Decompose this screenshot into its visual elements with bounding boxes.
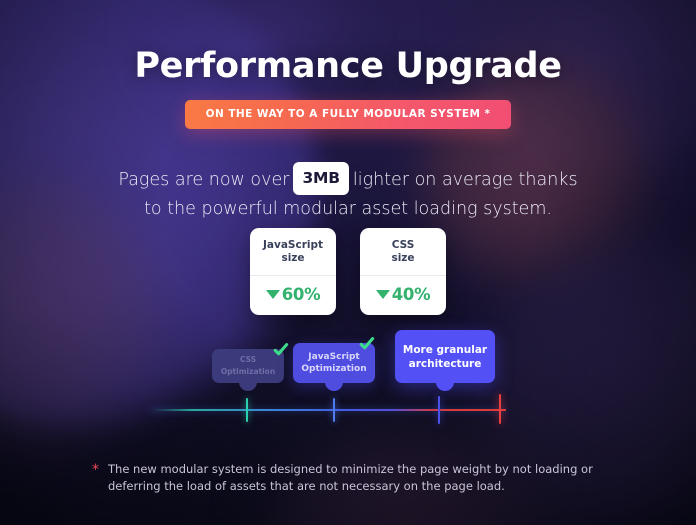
stat-card-title: CSS size bbox=[360, 228, 446, 276]
timeline-rail bbox=[150, 409, 506, 411]
badge-container: ON THE WAY TO A FULLY MODULAR SYSTEM * bbox=[0, 100, 696, 129]
infographic-canvas: Performance Upgrade ON THE WAY TO A FULL… bbox=[0, 0, 696, 525]
bubble-line2: Optimization bbox=[221, 367, 275, 376]
bubble-line2: Optimization bbox=[301, 364, 366, 374]
roadmap-bubble-more-granular-architecture: More granular architecture bbox=[395, 330, 495, 383]
stat-card-javascript: JavaScript size 60% bbox=[250, 228, 336, 315]
stat-card-value-row: 60% bbox=[250, 276, 336, 315]
stat-card-group: JavaScript size 60% CSS size 40% bbox=[0, 228, 696, 315]
page-title: Performance Upgrade bbox=[0, 46, 696, 86]
triangle-down-icon bbox=[266, 290, 280, 299]
timeline-tick-2 bbox=[333, 398, 335, 422]
subtitle-line2: to the powerful modular asset loading sy… bbox=[144, 199, 552, 219]
bubble-line1: More granular bbox=[403, 344, 487, 356]
subtitle-after: lighter on average thanks bbox=[353, 170, 578, 190]
subtitle: Pages are now over3MBlighter on average … bbox=[0, 162, 696, 223]
stat-card-title-line1: CSS bbox=[392, 239, 415, 251]
timeline-tick-3 bbox=[438, 396, 440, 424]
stat-card-value: 40% bbox=[392, 285, 431, 304]
timeline-tick-1 bbox=[246, 398, 248, 422]
footnote: * The new modular system is designed to … bbox=[92, 461, 612, 495]
footnote-line1: The new modular system is designed to mi… bbox=[108, 462, 577, 476]
triangle-down-icon bbox=[376, 290, 390, 299]
stat-card-value: 60% bbox=[282, 285, 321, 304]
asterisk-icon: * bbox=[92, 461, 99, 495]
check-icon bbox=[273, 342, 289, 358]
stat-card-css: CSS size 40% bbox=[360, 228, 446, 315]
timeline-tick-4 bbox=[499, 394, 501, 424]
status-badge: ON THE WAY TO A FULLY MODULAR SYSTEM * bbox=[185, 100, 512, 129]
stat-card-title-line2: size bbox=[391, 252, 414, 264]
roadmap-diagram: CSS Optimization JavaScript Optimization… bbox=[0, 318, 696, 433]
stat-card-title-line1: JavaScript bbox=[263, 239, 323, 251]
subtitle-before: Pages are now over bbox=[118, 170, 289, 190]
stat-card-title-line2: size bbox=[281, 252, 304, 264]
stat-card-value-row: 40% bbox=[360, 276, 446, 315]
stat-card-title: JavaScript size bbox=[250, 228, 336, 276]
bubble-line2: architecture bbox=[409, 358, 482, 370]
bubble-line1: CSS bbox=[240, 355, 256, 364]
check-icon bbox=[359, 336, 375, 352]
bubble-line1: JavaScript bbox=[308, 352, 359, 362]
footnote-text: The new modular system is designed to mi… bbox=[108, 461, 612, 495]
size-highlight-pill: 3MB bbox=[293, 162, 348, 195]
